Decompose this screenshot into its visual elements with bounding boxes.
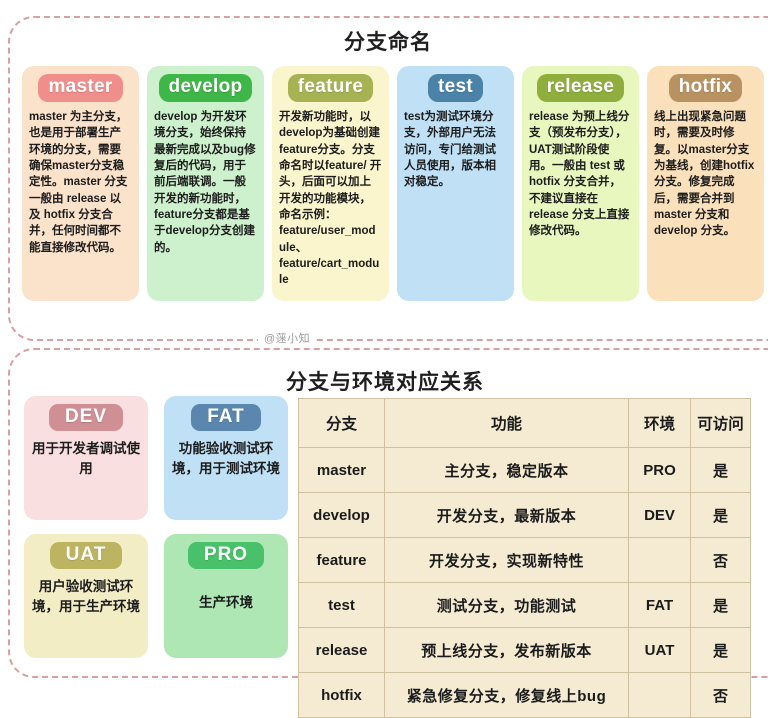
environment-badge-uat: UAT	[50, 542, 123, 569]
branch-badge-hotfix: hotfix	[669, 74, 743, 102]
branch-card-test[interactable]: test test为测试环境分支，外部用户无法访问，专门给测试人员使用，版本相对…	[397, 66, 514, 301]
environment-card-dev[interactable]: DEV 用于开发者调试使用	[24, 396, 148, 520]
column-header-access: 可访问	[691, 399, 751, 448]
environment-badge-fat: FAT	[191, 404, 260, 431]
table-row: release 预上线分支，发布新版本 UAT 是	[299, 628, 751, 673]
cell-env: PRO	[629, 448, 691, 493]
branch-description: 开发新功能时，以develop为基础创建feature分支。分支命名时以feat…	[279, 109, 382, 289]
cell-function: 紧急修复分支，修复线上bug	[385, 673, 629, 718]
branch-badge-test: test	[428, 74, 483, 102]
branch-badge-feature: feature	[288, 74, 373, 102]
environment-card-uat[interactable]: UAT 用户验收测试环境，用于生产环境	[24, 534, 148, 658]
environment-card-grid: DEV 用于开发者调试使用 FAT 功能验收测试环境，用于测试环境 UAT 用户…	[24, 396, 288, 658]
environment-description: 用户验收测试环境，用于生产环境	[30, 577, 142, 618]
column-header-env: 环境	[629, 399, 691, 448]
branch-badge-master: master	[38, 74, 122, 102]
table-row: test 测试分支，功能测试 FAT 是	[299, 583, 751, 628]
table-row: hotfix 紧急修复分支，修复线上bug 否	[299, 673, 751, 718]
branch-card-feature[interactable]: feature 开发新功能时，以develop为基础创建feature分支。分支…	[272, 66, 389, 301]
watermark-label: @蒾小知	[258, 330, 316, 346]
branch-card-list: master master 为主分支，也是用于部署生产环境的分支，需要确保mas…	[22, 66, 764, 301]
branch-badge-develop: develop	[159, 74, 253, 102]
branch-description: test为测试环境分支，外部用户无法访问，专门给测试人员使用，版本相对稳定。	[404, 109, 507, 191]
environment-description: 生产环境	[199, 593, 253, 613]
cell-branch: hotfix	[299, 673, 385, 718]
branch-card-release[interactable]: release release 为预上线分支（预发布分支），UAT测试阶段使用。…	[522, 66, 639, 301]
column-header-branch: 分支	[299, 399, 385, 448]
branch-card-master[interactable]: master master 为主分支，也是用于部署生产环境的分支，需要确保mas…	[22, 66, 139, 301]
cell-function: 预上线分支，发布新版本	[385, 628, 629, 673]
page-title-branch-naming: 分支命名	[344, 26, 432, 56]
cell-function: 开发分支，实现新特性	[385, 538, 629, 583]
table-header-row: 分支 功能 环境 可访问	[299, 399, 751, 448]
branch-environment-table: 分支 功能 环境 可访问 master 主分支，稳定版本 PRO 是 devel…	[298, 398, 751, 718]
cell-access: 否	[691, 538, 751, 583]
cell-env: UAT	[629, 628, 691, 673]
branch-description: 线上出现紧急问题时，需要及时修复。以master分支为基线，创建hotfix分支…	[654, 109, 757, 240]
cell-branch: release	[299, 628, 385, 673]
cell-access: 是	[691, 628, 751, 673]
environment-card-pro[interactable]: PRO 生产环境	[164, 534, 288, 658]
branch-environment-table-wrapper: 分支 功能 环境 可访问 master 主分支，稳定版本 PRO 是 devel…	[298, 398, 750, 718]
cell-access: 是	[691, 493, 751, 538]
environment-description: 用于开发者调试使用	[30, 439, 142, 480]
branch-badge-release: release	[537, 74, 625, 102]
cell-env	[629, 673, 691, 718]
branch-card-develop[interactable]: develop develop 为开发环境分支，始终保持最新完成以及bug修复后…	[147, 66, 264, 301]
cell-branch: develop	[299, 493, 385, 538]
cell-branch: test	[299, 583, 385, 628]
branch-description: release 为预上线分支（预发布分支），UAT测试阶段使用。一般由 test…	[529, 109, 632, 240]
cell-access: 是	[691, 583, 751, 628]
column-header-function: 功能	[385, 399, 629, 448]
cell-function: 开发分支，最新版本	[385, 493, 629, 538]
cell-env	[629, 538, 691, 583]
cell-access: 否	[691, 673, 751, 718]
cell-function: 测试分支，功能测试	[385, 583, 629, 628]
table-row: master 主分支，稳定版本 PRO 是	[299, 448, 751, 493]
environment-badge-pro: PRO	[188, 542, 264, 569]
branch-card-hotfix[interactable]: hotfix 线上出现紧急问题时，需要及时修复。以master分支为基线，创建h…	[647, 66, 764, 301]
cell-function: 主分支，稳定版本	[385, 448, 629, 493]
page-title-branch-environment: 分支与环境对应关系	[286, 366, 484, 396]
table-row: feature 开发分支，实现新特性 否	[299, 538, 751, 583]
environment-description: 功能验收测试环境，用于测试环境	[170, 439, 282, 480]
cell-branch: master	[299, 448, 385, 493]
table-row: develop 开发分支，最新版本 DEV 是	[299, 493, 751, 538]
cell-env: FAT	[629, 583, 691, 628]
environment-badge-dev: DEV	[49, 404, 123, 431]
cell-access: 是	[691, 448, 751, 493]
branch-description: develop 为开发环境分支，始终保持最新完成以及bug修复后的代码，用于前后…	[154, 109, 257, 256]
branch-description: master 为主分支，也是用于部署生产环境的分支，需要确保master分支稳定…	[29, 109, 132, 256]
cell-env: DEV	[629, 493, 691, 538]
environment-card-fat[interactable]: FAT 功能验收测试环境，用于测试环境	[164, 396, 288, 520]
cell-branch: feature	[299, 538, 385, 583]
